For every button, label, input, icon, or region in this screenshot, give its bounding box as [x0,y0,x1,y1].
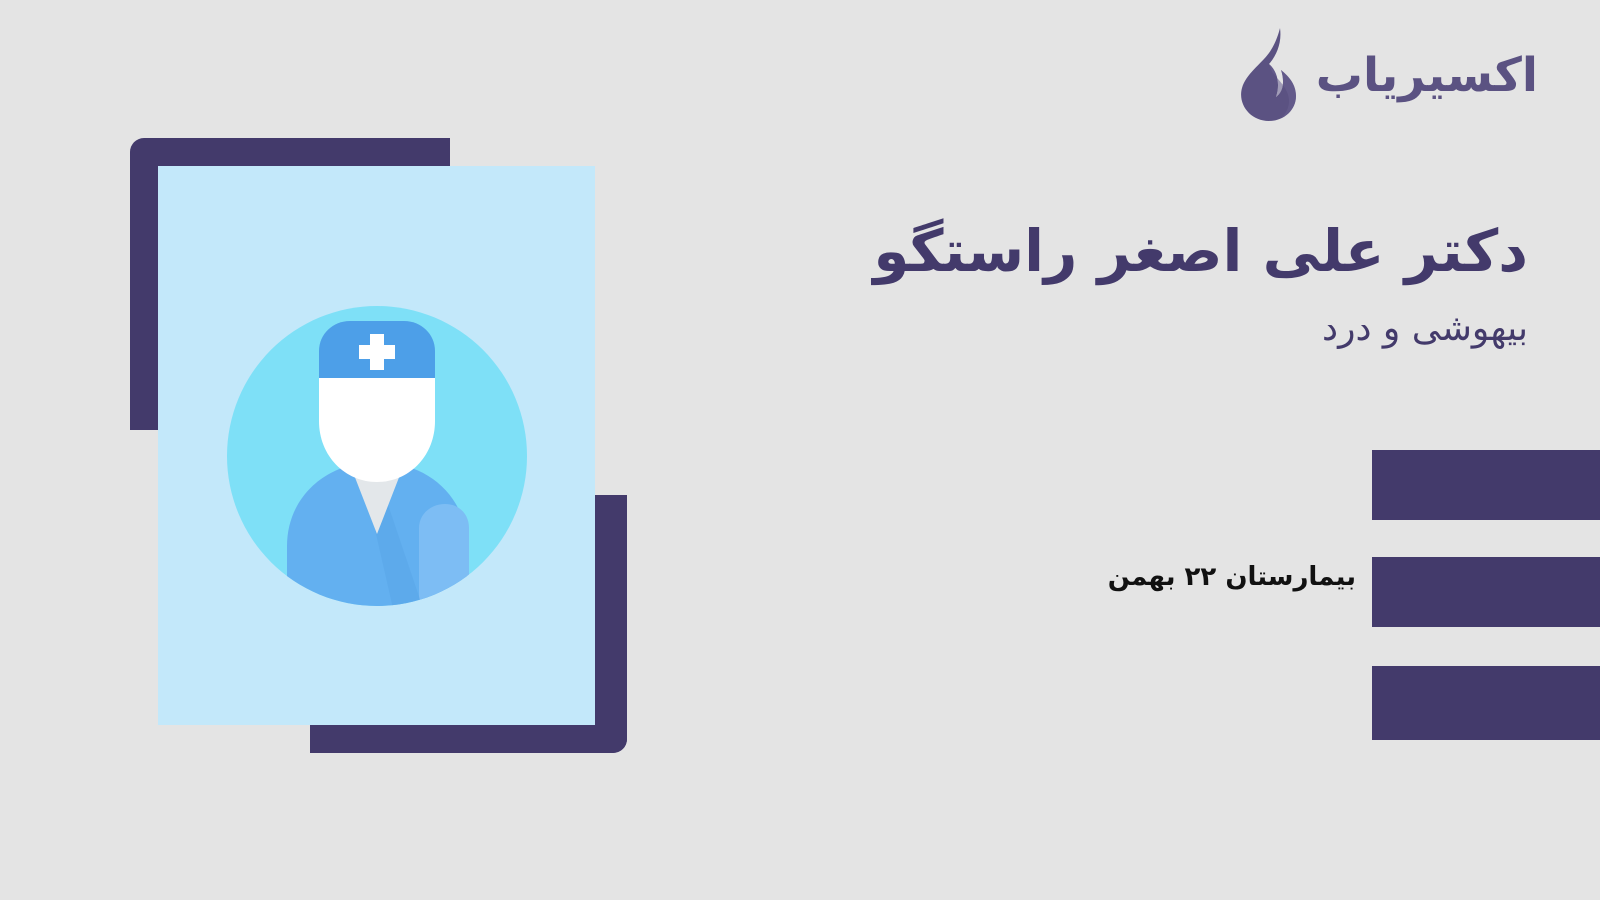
hospital-name: بیمارستان ۲۲ بهمن [1108,562,1356,592]
doctor-illustration [130,138,630,758]
doctor-avatar-icon [197,266,557,626]
edge-bar-2 [1372,557,1600,627]
decor-frame-bottom-right [595,495,627,753]
edge-bar-group [1360,0,1600,900]
decor-frame-bottom-bar [310,725,627,753]
brand-logo[interactable]: اکسیریاب [1236,26,1538,124]
brand-wordmark: اکسیریاب [1316,52,1538,99]
doctor-photo-card [158,166,595,725]
flame-drop-icon [1236,26,1302,124]
doctor-info: دکتر علی اصغر راستگو بیهوشی و درد [748,214,1528,353]
edge-bar-3 [1372,666,1600,740]
doctor-name: دکتر علی اصغر راستگو [748,214,1528,288]
slide-canvas: اکسیریاب [0,0,1600,900]
doctor-specialty: بیهوشی و درد [748,306,1528,353]
edge-bar-1 [1372,450,1600,520]
